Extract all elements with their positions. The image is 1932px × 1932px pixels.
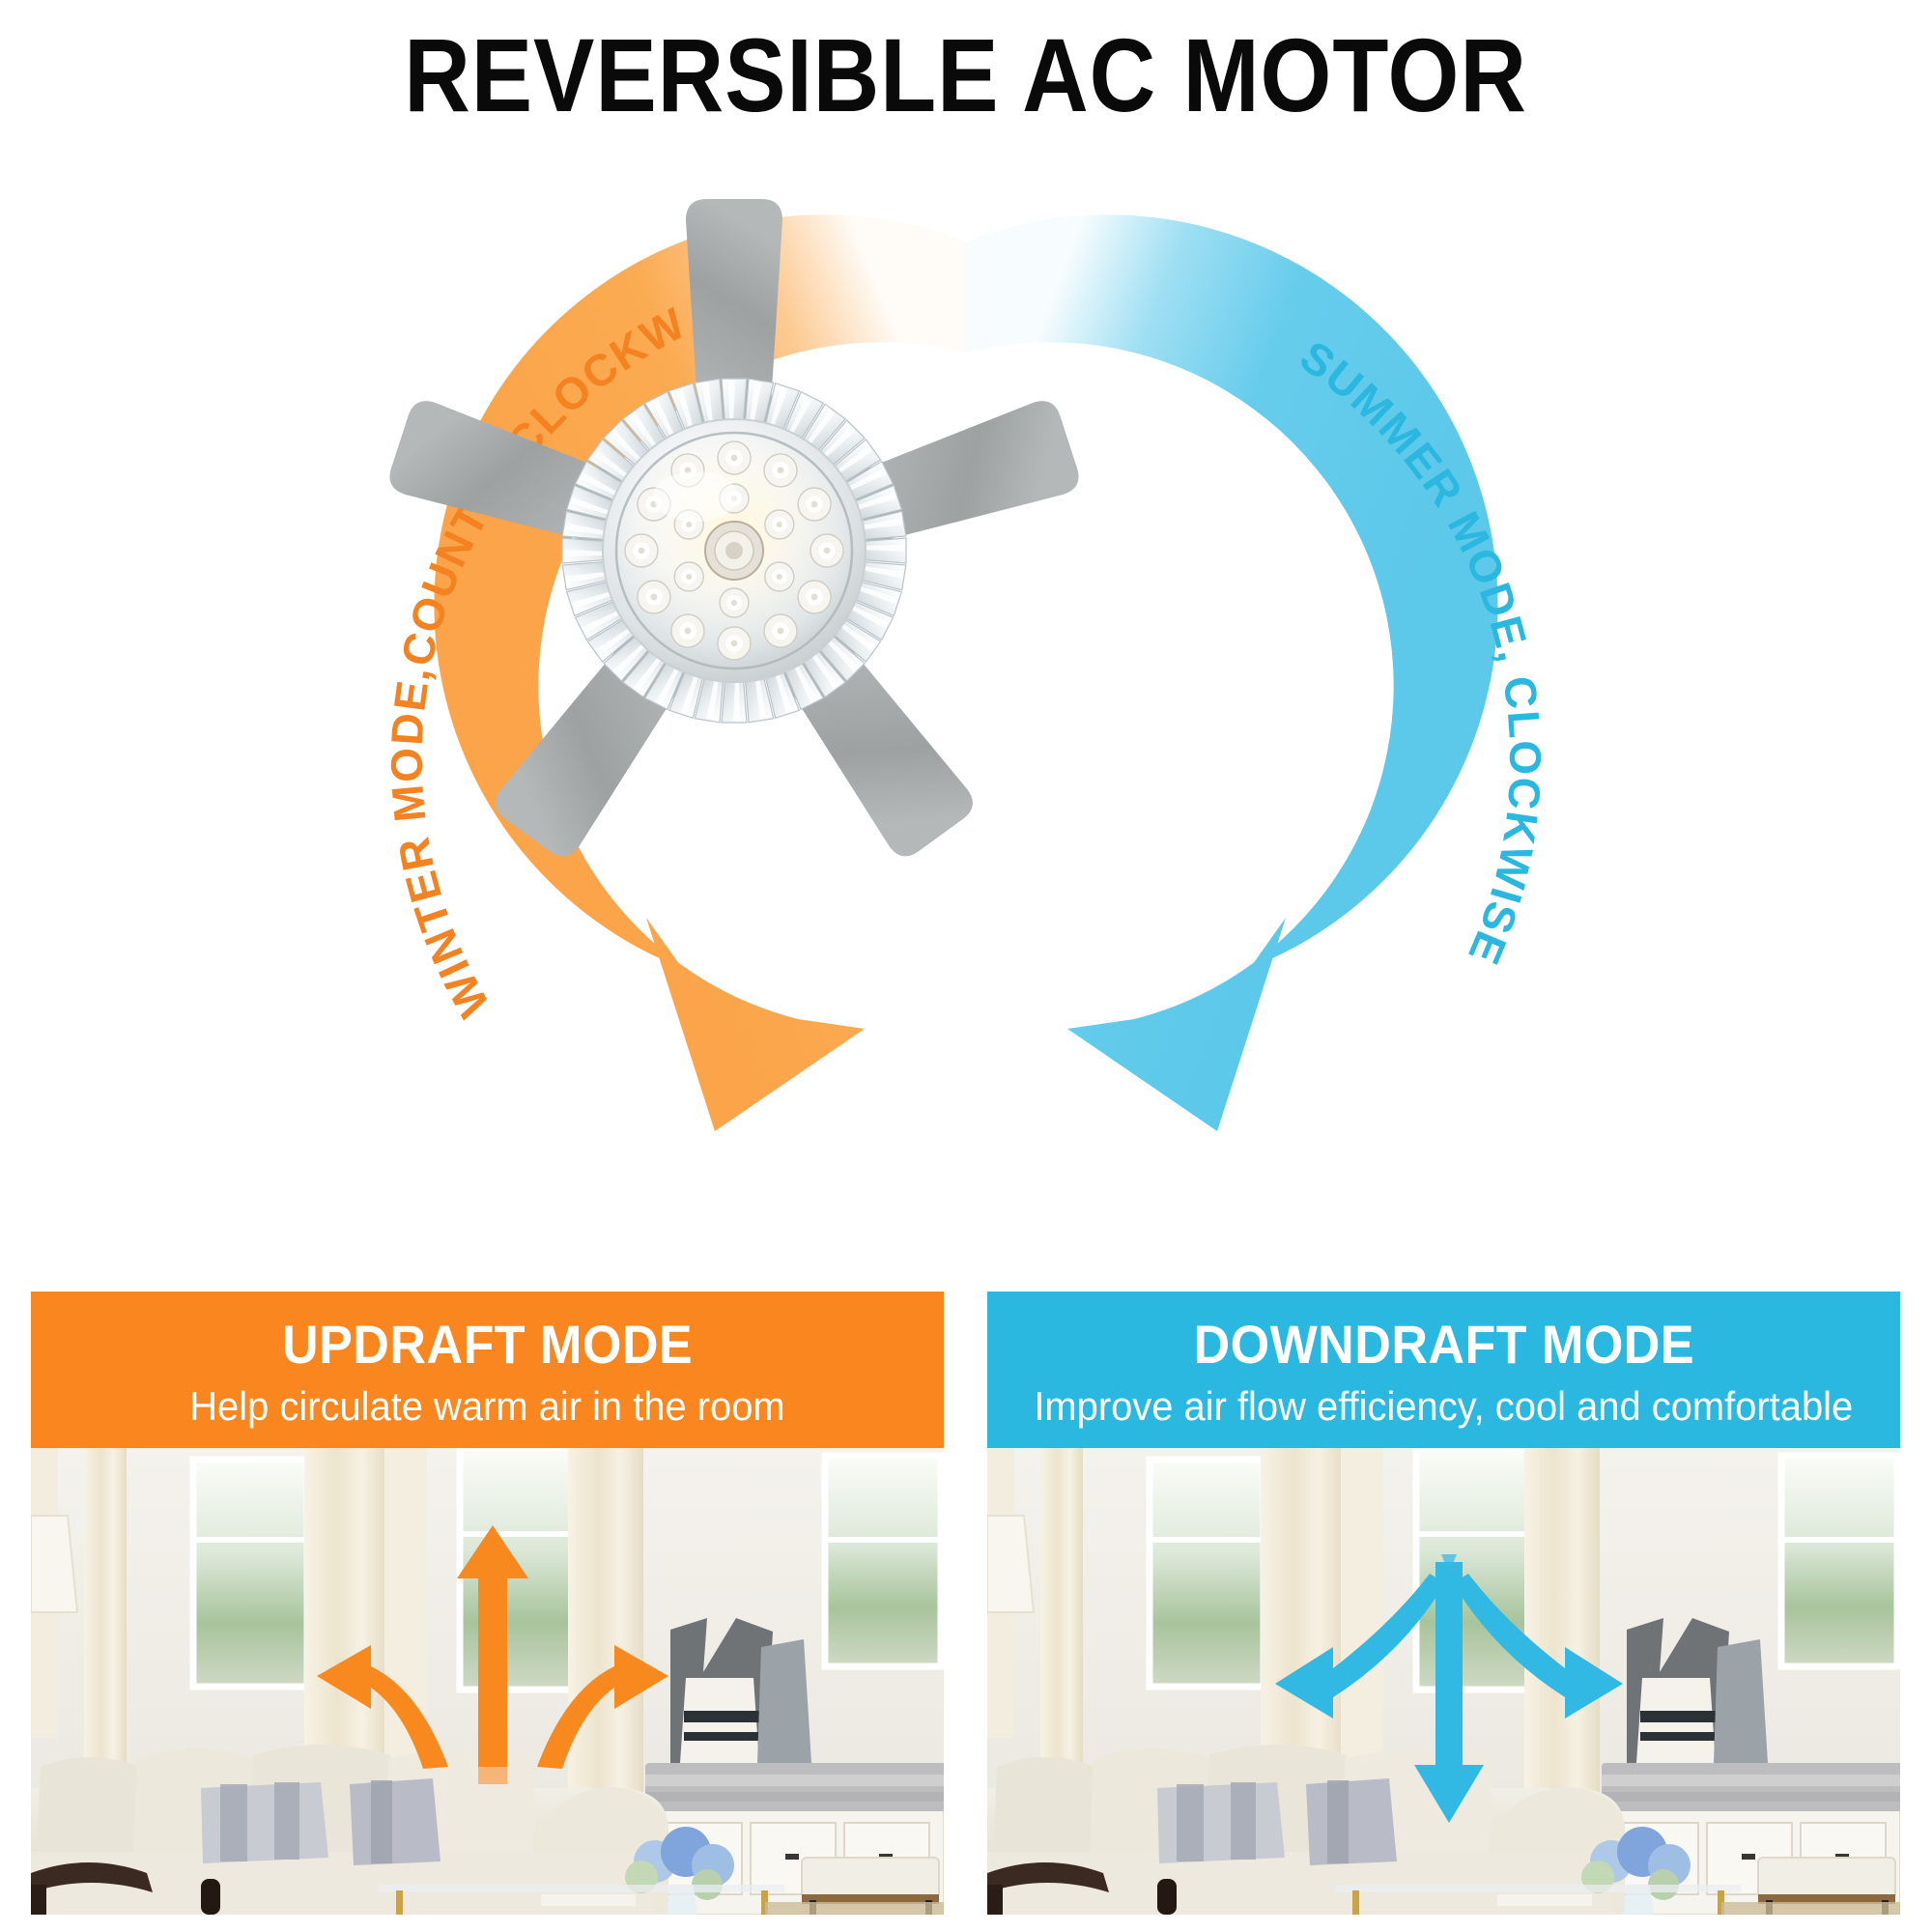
downdraft-subtitle: Improve air flow efficiency, cool and co… [1035, 1386, 1854, 1427]
panel-updraft-mode: UPDRAFT MODE Help circulate warm air in … [31, 1292, 944, 1915]
mode-panels: UPDRAFT MODE Help circulate warm air in … [0, 1292, 1932, 1918]
downdraft-title: DOWNDRAFT MODE [1193, 1317, 1694, 1372]
updraft-title: UPDRAFT MODE [282, 1317, 693, 1372]
panel-downdraft-mode: DOWNDRAFT MODE Improve air flow efficien… [987, 1292, 1900, 1915]
title-bar: REVERSIBLE AC MOTOR [0, 17, 1932, 133]
winter-mode-arc [434, 214, 966, 1131]
reversible-motor-direction-diagram: WINTER MODE,COUNTERCLOCKWISE SUMMER MODE… [261, 145, 1671, 1236]
living-room-photo-downdraft [987, 1448, 1900, 1915]
downdraft-header: DOWNDRAFT MODE Improve air flow efficien… [987, 1292, 1900, 1448]
updraft-subtitle: Help circulate warm air in the room [189, 1386, 784, 1427]
page-title: REVERSIBLE AC MOTOR [405, 23, 1528, 128]
updraft-header: UPDRAFT MODE Help circulate warm air in … [31, 1292, 944, 1448]
living-room-photo-updraft [31, 1448, 944, 1915]
summer-mode-arc [966, 214, 1498, 1131]
